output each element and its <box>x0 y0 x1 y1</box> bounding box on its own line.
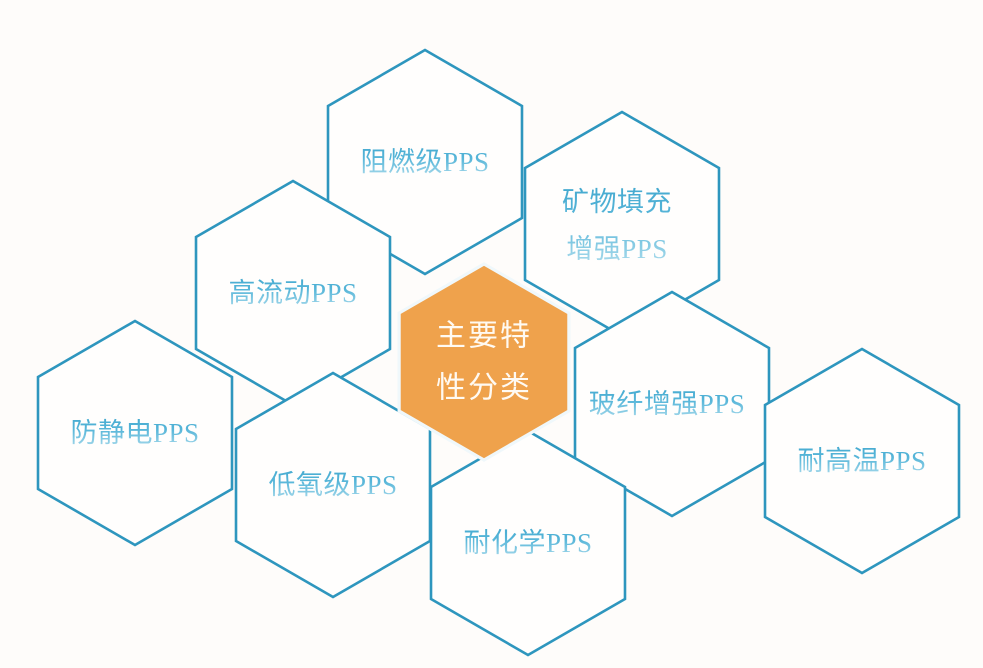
hexagon-label-line: 矿物填充 <box>562 179 672 226</box>
hexagon-label-line: 阻燃级PPS <box>360 143 489 181</box>
hexagon-label-line: 耐高温PPS <box>797 442 926 480</box>
hexagon-label-line: 防静电PPS <box>70 414 199 452</box>
hexagon-diagram: 阻燃级PPS矿物填充增强PPS高流动PPS玻纤增强PPS防静电PPS低氧级PPS… <box>0 0 983 668</box>
hexagon-label-flame-retardant-pps: 阻燃级PPS <box>360 143 489 181</box>
hexagon-label-line: 高流动PPS <box>228 274 357 312</box>
hexagon-label-low-oxygen-grade-pps: 低氧级PPS <box>268 466 397 504</box>
hexagon-label-mineral-filled-reinforced-pps: 矿物填充增强PPS <box>562 179 672 274</box>
hexagon-label-line: 增强PPS <box>562 226 672 273</box>
hexagon-label-line: 玻纤增强PPS <box>589 385 746 423</box>
hexagon-label-line: 性分类 <box>436 362 532 414</box>
hexagon-label-glass-fiber-reinforced-pps: 玻纤增强PPS <box>589 385 746 423</box>
hexagon-label-high-temperature-resistant-pps: 耐高温PPS <box>797 442 926 480</box>
hexagon-label-chemical-resistant-pps: 耐化学PPS <box>463 524 592 562</box>
hexagon-label-line: 主要特 <box>436 310 532 362</box>
hexagon-label-high-flow-pps: 高流动PPS <box>228 274 357 312</box>
hexagon-label-center-hexagon: 主要特性分类 <box>436 310 532 413</box>
hexagon-label-antistatic-pps: 防静电PPS <box>70 414 199 452</box>
hexagon-label-line: 低氧级PPS <box>268 466 397 504</box>
hexagon-label-line: 耐化学PPS <box>463 524 592 562</box>
